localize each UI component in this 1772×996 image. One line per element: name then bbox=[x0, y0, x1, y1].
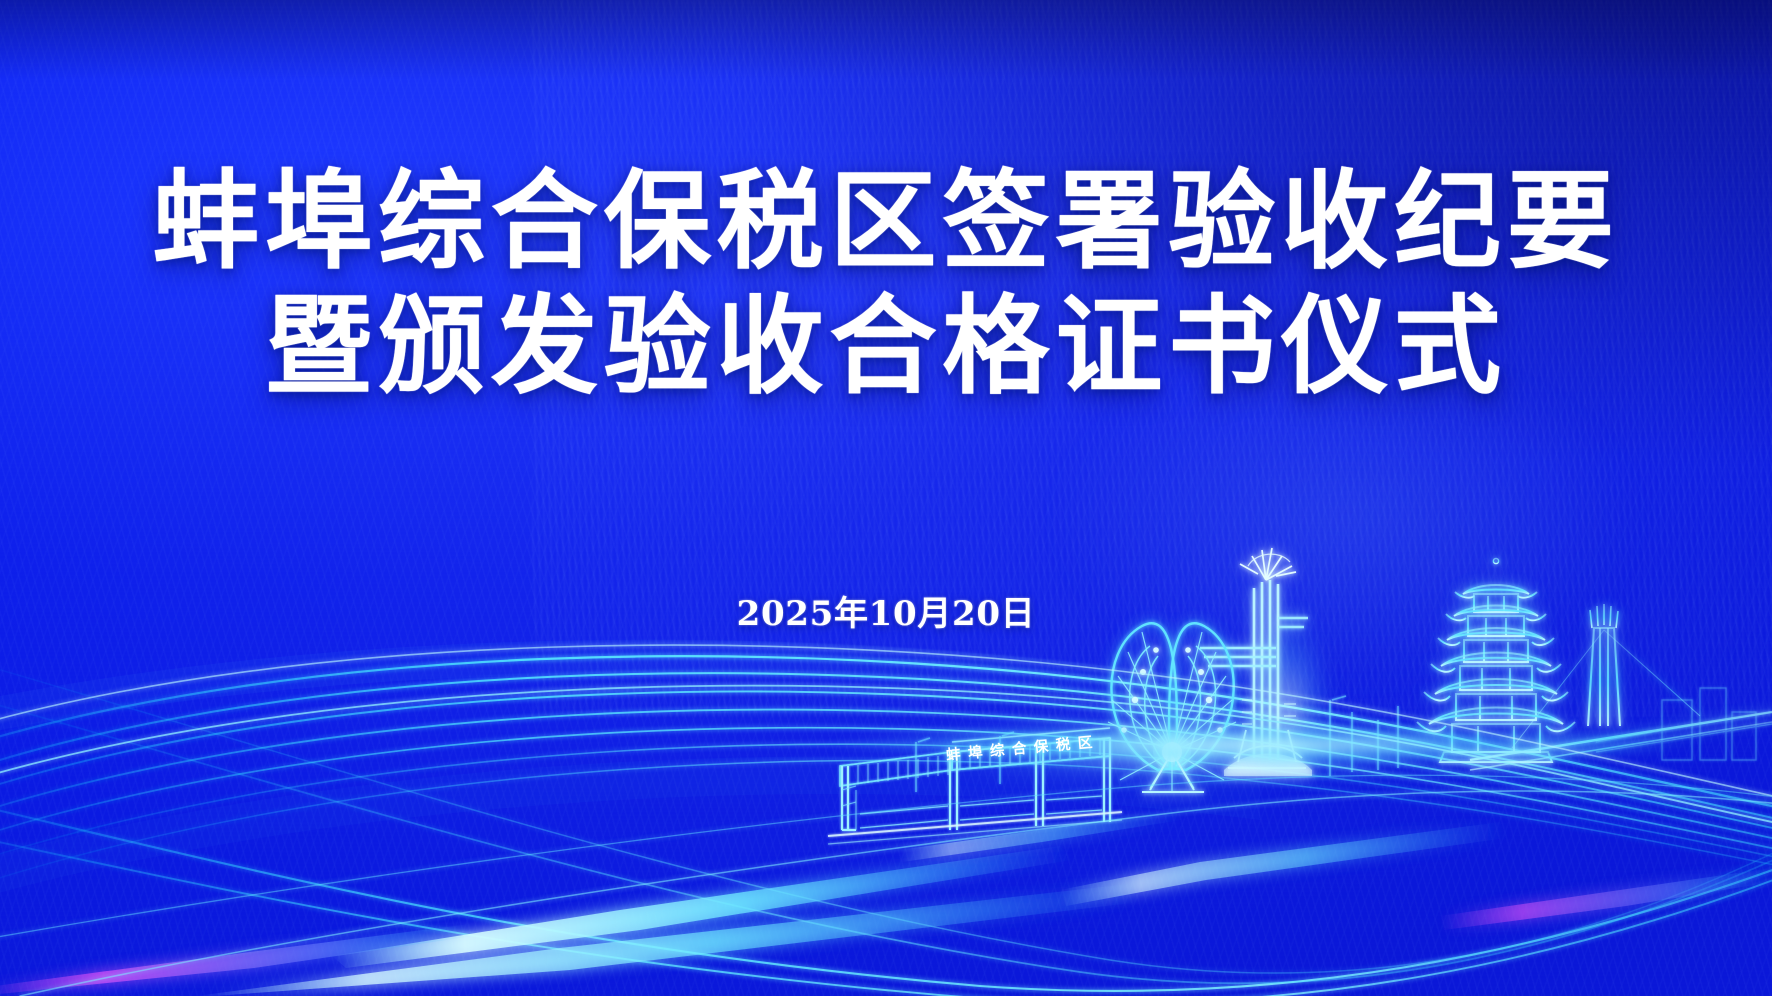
page-title-line-1: 蚌埠综合保税区签署验收纪要 bbox=[0, 168, 1772, 277]
ceremony-backdrop-screen: 蚌埠综合保税区 蚌埠综合保税区签署验收纪要 暨颁发验收合格证书仪式 2025年1… bbox=[0, 0, 1772, 996]
background-scanlines bbox=[0, 0, 1772, 996]
page-title-line-2: 暨颁发验收合格证书仪式 bbox=[0, 293, 1772, 402]
event-date: 2025年10月20日 bbox=[0, 586, 1772, 635]
title-block: 蚌埠综合保税区签署验收纪要 暨颁发验收合格证书仪式 bbox=[0, 168, 1772, 402]
ground-light-band bbox=[709, 722, 1772, 768]
